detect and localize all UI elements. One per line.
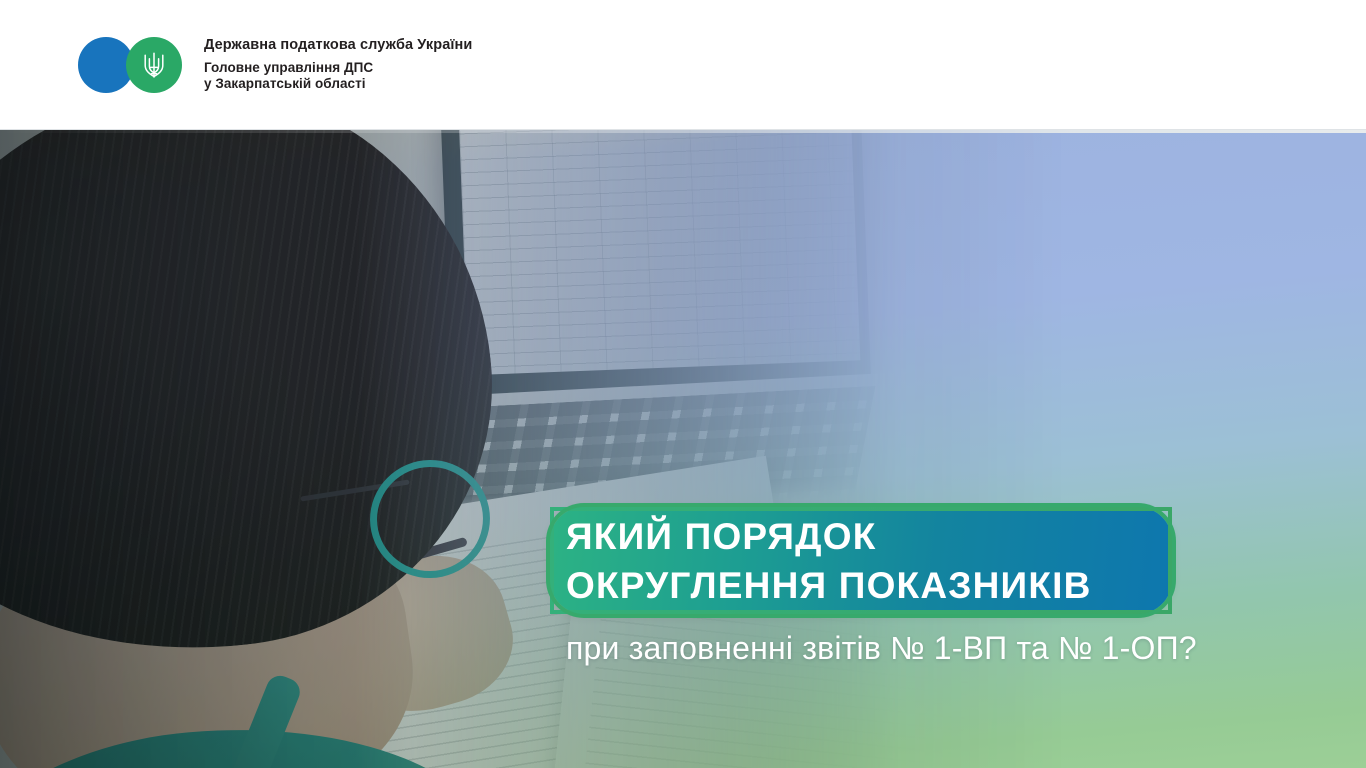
banner-page: Державна податкова служба України Головн…: [0, 0, 1366, 768]
org-region-line: у Закарпатській області: [204, 76, 472, 92]
logo-marks: [78, 37, 182, 93]
ukraine-trident-icon: [141, 50, 167, 80]
org-name-line: Державна податкова служба України: [204, 37, 472, 54]
hero-title: ЯКИЙ ПОРЯДОК ОКРУГЛЕННЯ ПОКАЗНИКІВ: [566, 512, 1186, 610]
hero-title-line-2: ОКРУГЛЕННЯ ПОКАЗНИКІВ: [566, 561, 1186, 610]
hero-top-highlight: [0, 130, 1366, 133]
site-header: Державна податкова служба України Головн…: [0, 0, 1366, 130]
dps-green-circle-icon: [126, 37, 182, 93]
org-department-line: Головне управління ДПС: [204, 60, 472, 76]
hero-gradient-overlay: [0, 130, 1366, 768]
hero-banner: ЯКИЙ ПОРЯДОК ОКРУГЛЕННЯ ПОКАЗНИКІВ при з…: [0, 130, 1366, 768]
organization-logo[interactable]: Державна податкова служба України Головн…: [78, 37, 472, 93]
hero-subtitle: при заповненні звітів № 1-ВП та № 1-ОП?: [566, 628, 1197, 668]
hero-title-line-1: ЯКИЙ ПОРЯДОК: [566, 512, 1186, 561]
organization-title-block: Державна податкова служба України Головн…: [204, 37, 472, 92]
